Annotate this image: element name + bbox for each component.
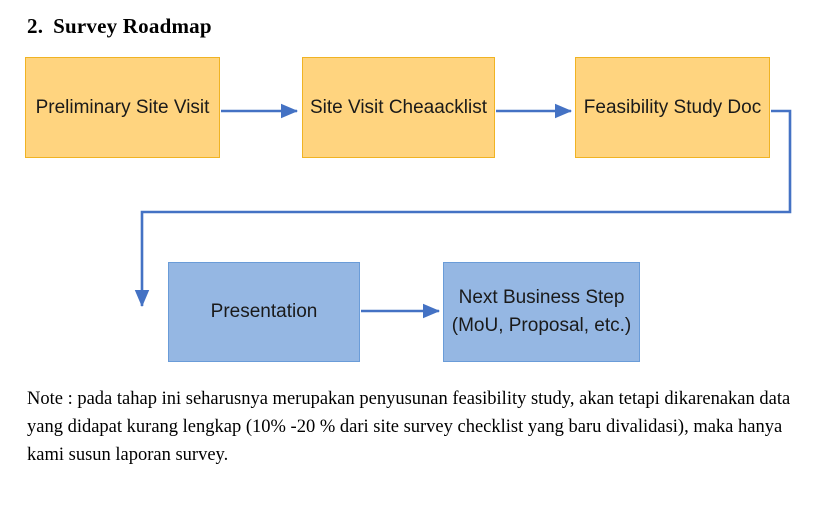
- node-next-business-step[interactable]: Next Business Step (MoU, Proposal, etc.): [443, 262, 640, 362]
- node-label: Next Business Step (MoU, Proposal, etc.): [450, 284, 633, 339]
- node-preliminary-site-visit[interactable]: Preliminary Site Visit: [25, 57, 220, 158]
- node-label: Preliminary Site Visit: [32, 94, 213, 122]
- node-label: Feasibility Study Doc: [582, 94, 763, 122]
- roadmap-page: 2.Survey Roadmap Preliminary Site Visit …: [0, 0, 815, 507]
- note-text: Note : pada tahap ini seharusnya merupak…: [27, 385, 802, 469]
- node-feasibility-study-doc[interactable]: Feasibility Study Doc: [575, 57, 770, 158]
- node-presentation[interactable]: Presentation: [168, 262, 360, 362]
- node-label: Presentation: [175, 298, 353, 326]
- node-site-visit-checklist[interactable]: Site Visit Cheaacklist: [302, 57, 495, 158]
- node-label: Site Visit Cheaacklist: [309, 94, 488, 122]
